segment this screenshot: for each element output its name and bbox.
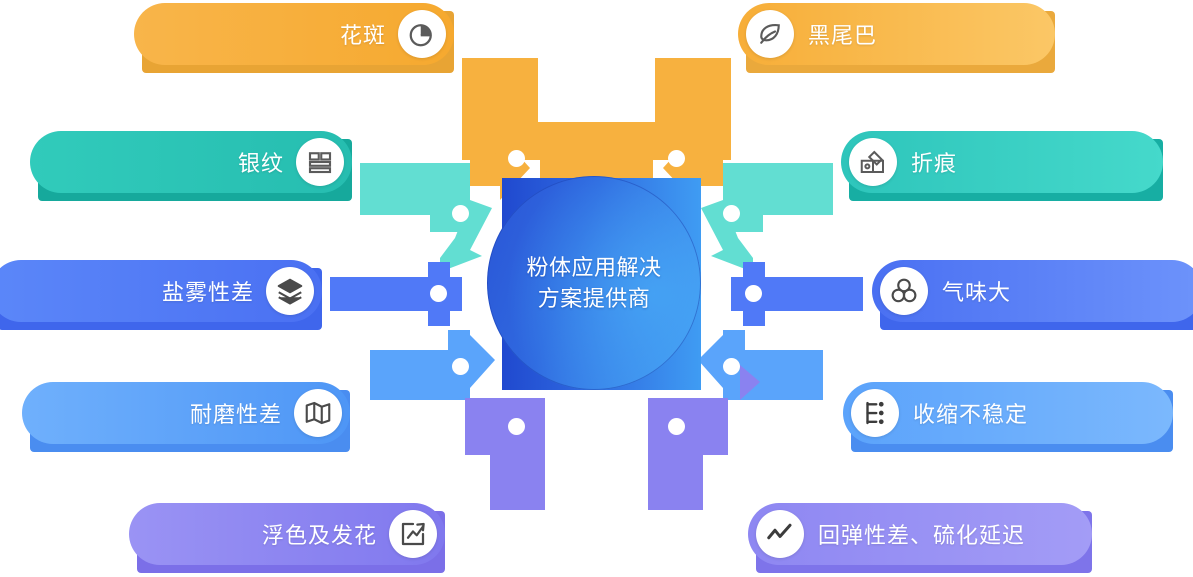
- junction-dot: [745, 285, 762, 302]
- junction-dot: [452, 205, 469, 222]
- node-yanwu[interactable]: 盐雾性差: [0, 260, 322, 322]
- node-label: 回弹性差、硫化延迟: [818, 518, 1025, 550]
- junction-dot: [668, 150, 685, 167]
- node-huitan[interactable]: 回弹性差、硫化延迟: [748, 503, 1092, 565]
- junction-dot: [430, 285, 447, 302]
- sitemap-icon: [851, 389, 899, 437]
- trend-box-icon: [389, 510, 437, 558]
- junction-dot: [452, 358, 469, 375]
- node-label: 花斑: [340, 18, 386, 50]
- junction-dot: [723, 205, 740, 222]
- brick-wall-icon: [296, 138, 344, 186]
- node-naimo[interactable]: 耐磨性差: [22, 382, 350, 444]
- puzzle-icon: [849, 138, 897, 186]
- junction-dot: [508, 418, 525, 435]
- node-zhehen[interactable]: 折痕: [841, 131, 1163, 193]
- node-heiweiba[interactable]: 黑尾巴: [738, 3, 1055, 65]
- node-label: 气味大: [942, 275, 1011, 307]
- junction-dot: [723, 358, 740, 375]
- node-qiweida[interactable]: 气味大: [872, 260, 1193, 322]
- node-label: 浮色及发花: [262, 518, 377, 550]
- open-book-icon: [294, 389, 342, 437]
- node-yinwen[interactable]: 银纹: [30, 131, 352, 193]
- connector-row5-left: [465, 398, 545, 510]
- leaf-icon: [746, 10, 794, 58]
- recycle-icon: [880, 267, 928, 315]
- node-label: 黑尾巴: [808, 18, 877, 50]
- junction-dot: [508, 150, 525, 167]
- line-chart-icon: [756, 510, 804, 558]
- node-huaban[interactable]: 花斑: [134, 3, 454, 65]
- connector-row4-right: [698, 330, 823, 400]
- node-label: 盐雾性差: [162, 275, 254, 307]
- junction-dot: [668, 418, 685, 435]
- node-label: 折痕: [911, 146, 957, 178]
- node-shousuo[interactable]: 收缩不稳定: [843, 382, 1173, 444]
- node-label: 收缩不稳定: [913, 397, 1028, 429]
- node-label: 耐磨性差: [190, 397, 282, 429]
- pie-chart-icon: [398, 10, 446, 58]
- layers-icon: [266, 267, 314, 315]
- node-fuse[interactable]: 浮色及发花: [129, 503, 445, 565]
- connector-row4-left: [370, 330, 495, 400]
- center-title-line1: 粉体应用解决: [526, 252, 661, 283]
- node-label: 银纹: [238, 146, 284, 178]
- center-label: 粉体应用解决 方案提供商: [487, 176, 701, 390]
- center-title-line2: 方案提供商: [538, 283, 651, 314]
- infographic-diagram: 粉体应用解决 方案提供商 花斑 黑尾巴 银纹: [0, 0, 1193, 577]
